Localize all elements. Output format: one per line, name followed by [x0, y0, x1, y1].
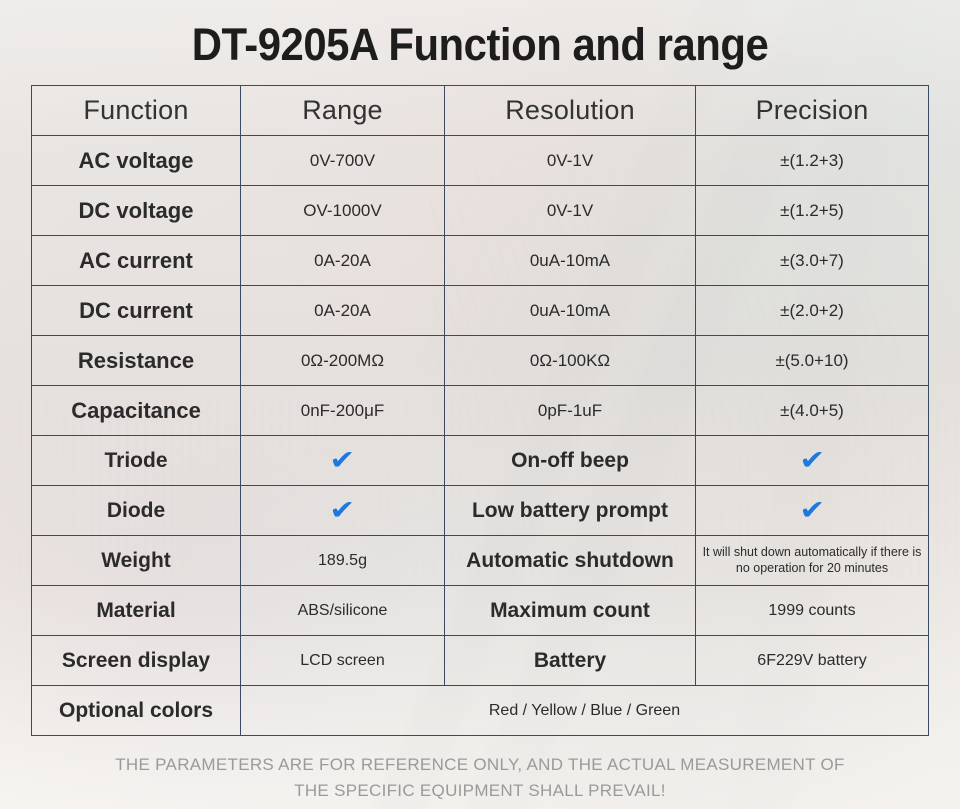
row-precision: ±(3.0+7)	[696, 236, 929, 286]
row-value: ✔	[241, 436, 445, 486]
row-label: Material	[32, 586, 241, 636]
row-label: Diode	[32, 486, 241, 536]
row-range: 0nF-200μF	[241, 386, 445, 436]
row-range: 0A-20A	[241, 286, 445, 336]
row-resolution: 0uA-10mA	[445, 286, 696, 336]
row-range: OV-1000V	[241, 186, 445, 236]
row-precision: ±(1.2+5)	[696, 186, 929, 236]
disclaimer-footer: THE PARAMETERS ARE FOR REFERENCE ONLY, A…	[0, 752, 960, 803]
row-resolution: 0V-1V	[445, 186, 696, 236]
check-icon: ✔	[799, 447, 825, 474]
column-header-resolution: Resolution	[445, 86, 696, 136]
table-row: Resistance 0Ω-200MΩ 0Ω-100KΩ ±(5.0+10)	[32, 336, 929, 386]
row-range: 0V-700V	[241, 136, 445, 186]
column-header-range: Range	[241, 86, 445, 136]
row-label: Screen display	[32, 636, 241, 686]
row-value: LCD screen	[241, 636, 445, 686]
row-value-colors: Red / Yellow / Blue / Green	[241, 686, 929, 736]
table-row: Weight 189.5g Automatic shutdown It will…	[32, 536, 929, 586]
row-resolution: 0Ω-100KΩ	[445, 336, 696, 386]
row-label-2: Maximum count	[445, 586, 696, 636]
row-precision: ±(4.0+5)	[696, 386, 929, 436]
disclaimer-line-1: THE PARAMETERS ARE FOR REFERENCE ONLY, A…	[0, 752, 960, 778]
row-label: Resistance	[32, 336, 241, 386]
row-value-2: ✔	[696, 436, 929, 486]
row-precision: ±(5.0+10)	[696, 336, 929, 386]
row-range: 0Ω-200MΩ	[241, 336, 445, 386]
table-row: DC current 0A-20A 0uA-10mA ±(2.0+2)	[32, 286, 929, 336]
check-icon: ✔	[799, 497, 825, 524]
table-row: Screen display LCD screen Battery 6F229V…	[32, 636, 929, 686]
table-row: Material ABS/silicone Maximum count 1999…	[32, 586, 929, 636]
row-label-2: Automatic shutdown	[445, 536, 696, 586]
row-resolution: 0pF-1uF	[445, 386, 696, 436]
row-value-2: 6F229V battery	[696, 636, 929, 686]
column-header-precision: Precision	[696, 86, 929, 136]
row-value: ✔	[241, 486, 445, 536]
disclaimer-line-2: THE SPECIFIC EQUIPMENT SHALL PREVAIL!	[0, 778, 960, 804]
row-label: AC current	[32, 236, 241, 286]
row-value-2: It will shut down automatically if there…	[696, 536, 929, 586]
row-resolution: 0V-1V	[445, 136, 696, 186]
specification-table: Function Range Resolution Precision AC v…	[31, 85, 929, 736]
row-value: ABS/silicone	[241, 586, 445, 636]
row-label: AC voltage	[32, 136, 241, 186]
table-row: Capacitance 0nF-200μF 0pF-1uF ±(4.0+5)	[32, 386, 929, 436]
row-label-2: On-off beep	[445, 436, 696, 486]
table-header-row: Function Range Resolution Precision	[32, 86, 929, 136]
row-resolution: 0uA-10mA	[445, 236, 696, 286]
column-header-function: Function	[32, 86, 241, 136]
row-precision: ±(1.2+3)	[696, 136, 929, 186]
row-label: DC current	[32, 286, 241, 336]
table-row: Triode ✔ On-off beep ✔	[32, 436, 929, 486]
row-precision: ±(2.0+2)	[696, 286, 929, 336]
spec-sheet-page: DT-9205A Function and range Function Ran…	[0, 0, 960, 809]
row-label: Optional colors	[32, 686, 241, 736]
row-range: 0A-20A	[241, 236, 445, 286]
page-title: DT-9205A Function and range	[34, 0, 927, 71]
table-row: AC current 0A-20A 0uA-10mA ±(3.0+7)	[32, 236, 929, 286]
row-label: Triode	[32, 436, 241, 486]
table-row: DC voltage OV-1000V 0V-1V ±(1.2+5)	[32, 186, 929, 236]
check-icon: ✔	[329, 497, 355, 524]
row-label-2: Battery	[445, 636, 696, 686]
row-value: 189.5g	[241, 536, 445, 586]
table-row: Diode ✔ Low battery prompt ✔	[32, 486, 929, 536]
row-value-2: 1999 counts	[696, 586, 929, 636]
table-row-optional-colors: Optional colors Red / Yellow / Blue / Gr…	[32, 686, 929, 736]
row-label: DC voltage	[32, 186, 241, 236]
check-icon: ✔	[329, 447, 355, 474]
row-label-2: Low battery prompt	[445, 486, 696, 536]
row-label: Capacitance	[32, 386, 241, 436]
row-label: Weight	[32, 536, 241, 586]
table-row: AC voltage 0V-700V 0V-1V ±(1.2+3)	[32, 136, 929, 186]
row-value-2: ✔	[696, 486, 929, 536]
